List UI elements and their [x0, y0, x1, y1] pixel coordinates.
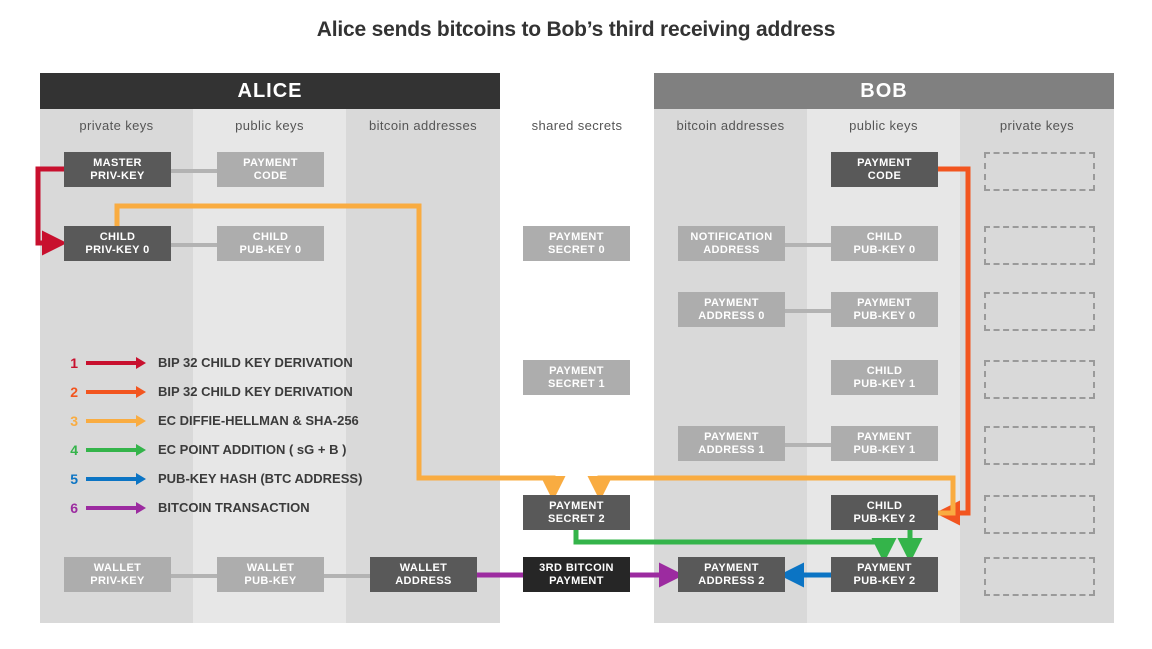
- link-walletpriv-to-walletpub: [170, 574, 218, 578]
- box-bob-payment-code[interactable]: PAYMENT CODE: [831, 152, 938, 187]
- colhead-alice-private: private keys: [40, 117, 193, 135]
- box-alice-wallet-priv[interactable]: WALLET PRIV-KEY: [64, 557, 171, 592]
- column-bob-addresses: [654, 109, 807, 623]
- colhead-alice-addresses: bitcoin addresses: [346, 117, 500, 135]
- legend-label: BIP 32 CHILD KEY DERIVATION: [158, 353, 353, 373]
- bob-header: BOB: [654, 73, 1114, 109]
- box-alice-child-priv-0[interactable]: CHILD PRIV-KEY 0: [64, 226, 171, 261]
- box-bob-payment-address-2[interactable]: PAYMENT ADDRESS 2: [678, 557, 785, 592]
- legend-arrow-head: [136, 502, 146, 514]
- box-bob-private-key-placeholder: [984, 495, 1095, 534]
- column-alice-addresses: [346, 109, 500, 623]
- alice-header-label: ALICE: [238, 80, 303, 102]
- legend-label: PUB-KEY HASH (BTC ADDRESS): [158, 469, 362, 489]
- legend-arrow-line: [86, 448, 138, 452]
- colhead-alice-public: public keys: [193, 117, 346, 135]
- box-bob-private-key-placeholder: [984, 360, 1095, 399]
- box-bob-child-pub-2[interactable]: CHILD PUB-KEY 2: [831, 495, 938, 530]
- legend-arrow-line: [86, 506, 138, 510]
- legend-arrow-head: [136, 473, 146, 485]
- box-bob-child-pub-0[interactable]: CHILD PUB-KEY 0: [831, 226, 938, 261]
- box-third-bitcoin-payment[interactable]: 3RD BITCOIN PAYMENT: [523, 557, 630, 592]
- bob-header-label: BOB: [860, 80, 907, 102]
- box-bob-payment-pub-0[interactable]: PAYMENT PUB-KEY 0: [831, 292, 938, 327]
- link-paymentaddr0-to-paymentpub0: [784, 309, 832, 313]
- link-notification-to-childpub0: [784, 243, 832, 247]
- colhead-bob-private: private keys: [960, 117, 1114, 135]
- box-alice-master-priv[interactable]: MASTER PRIV-KEY: [64, 152, 171, 187]
- legend-arrow-head: [136, 415, 146, 427]
- box-bob-private-key-placeholder: [984, 226, 1095, 265]
- alice-header: ALICE: [40, 73, 500, 109]
- legend-label: BITCOIN TRANSACTION: [158, 498, 310, 518]
- legend-arrow-line: [86, 361, 138, 365]
- box-payment-secret-2[interactable]: PAYMENT SECRET 2: [523, 495, 630, 530]
- legend-label: EC DIFFIE-HELLMAN & SHA-256: [158, 411, 359, 431]
- box-bob-child-pub-1[interactable]: CHILD PUB-KEY 1: [831, 360, 938, 395]
- page-title: Alice sends bitcoins to Bob’s third rece…: [0, 18, 1152, 42]
- link-paymentaddr1-to-paymentpub1: [784, 443, 832, 447]
- link-walletpub-to-walletaddr: [323, 574, 371, 578]
- diagram-canvas: Alice sends bitcoins to Bob’s third rece…: [0, 0, 1152, 649]
- legend-arrow-head: [136, 386, 146, 398]
- colhead-bob-addresses: bitcoin addresses: [654, 117, 807, 135]
- box-alice-wallet-address[interactable]: WALLET ADDRESS: [370, 557, 477, 592]
- legend-label: BIP 32 CHILD KEY DERIVATION: [158, 382, 353, 402]
- legend-number: 1: [64, 353, 78, 373]
- box-bob-payment-address-1[interactable]: PAYMENT ADDRESS 1: [678, 426, 785, 461]
- box-alice-child-pub-0[interactable]: CHILD PUB-KEY 0: [217, 226, 324, 261]
- legend-number: 5: [64, 469, 78, 489]
- box-bob-payment-pub-2[interactable]: PAYMENT PUB-KEY 2: [831, 557, 938, 592]
- box-alice-payment-code[interactable]: PAYMENT CODE: [217, 152, 324, 187]
- legend-arrow-head: [136, 444, 146, 456]
- box-bob-payment-pub-1[interactable]: PAYMENT PUB-KEY 1: [831, 426, 938, 461]
- box-bob-private-key-placeholder: [984, 292, 1095, 331]
- legend-arrow-line: [86, 390, 138, 394]
- legend-number: 4: [64, 440, 78, 460]
- legend-number: 2: [64, 382, 78, 402]
- link-childpriv-to-childpub: [170, 243, 218, 247]
- box-bob-private-key-placeholder: [984, 426, 1095, 465]
- box-payment-secret-0[interactable]: PAYMENT SECRET 0: [523, 226, 630, 261]
- box-alice-wallet-pub[interactable]: WALLET PUB-KEY: [217, 557, 324, 592]
- legend-arrow-line: [86, 419, 138, 423]
- colhead-bob-public: public keys: [807, 117, 960, 135]
- legend-number: 3: [64, 411, 78, 431]
- legend-arrow-line: [86, 477, 138, 481]
- legend-number: 6: [64, 498, 78, 518]
- box-bob-private-key-placeholder: [984, 152, 1095, 191]
- box-bob-notification-address[interactable]: NOTIFICATION ADDRESS: [678, 226, 785, 261]
- link-master-to-paymentcode: [170, 169, 218, 173]
- legend-arrow-head: [136, 357, 146, 369]
- box-payment-secret-1[interactable]: PAYMENT SECRET 1: [523, 360, 630, 395]
- colhead-shared-secrets: shared secrets: [500, 117, 654, 135]
- box-bob-private-key-placeholder: [984, 557, 1095, 596]
- legend: 1 BIP 32 CHILD KEY DERIVATION 2 BIP 32 C…: [64, 353, 364, 523]
- legend-label: EC POINT ADDITION ( sG + B ): [158, 440, 346, 460]
- box-bob-payment-address-0[interactable]: PAYMENT ADDRESS 0: [678, 292, 785, 327]
